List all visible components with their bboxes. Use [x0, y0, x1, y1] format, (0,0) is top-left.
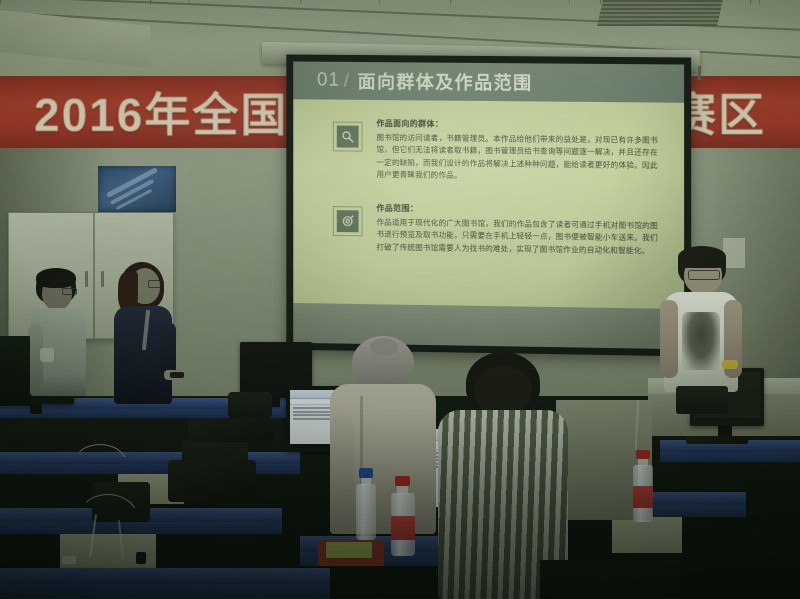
hair-top: [36, 268, 76, 288]
cable-plug: [136, 552, 146, 564]
slide-block-text: 作品范围： 作品适用于现代化的广大图书馆，我们的作品包含了读者可通过手机对图书馆…: [376, 203, 657, 258]
presentation-slide: 01 / 面向群体及作品范围: [293, 61, 684, 349]
slide-block-body: 作品适用于现代化的广大图书馆，我们的作品包含了读者可通过手机对图书馆的图书进行预…: [376, 217, 657, 258]
bottle-label: [633, 486, 653, 508]
person-seated-judge-gray-hair: [330, 336, 438, 546]
hair-top: [678, 246, 726, 268]
slide-block-title: 作品面向的群体：: [376, 118, 657, 132]
photo-scene: 2016年全国大 北分赛区 01 / 面向群体及作品范围: [0, 0, 800, 599]
magnifier-icon: [337, 126, 359, 148]
green-notebook[interactable]: [326, 542, 372, 558]
badge: [40, 348, 54, 362]
tshirt-graphic: [682, 312, 720, 370]
glasses-icon: [688, 270, 720, 280]
head-back: [474, 366, 532, 416]
slide-body: 作品面向的群体： 图书馆的访问读者，书籍管理员。本作品给他们带来的益处是，对现已…: [293, 99, 684, 309]
water-bottle-blue-cap[interactable]: [355, 468, 377, 540]
target-icon: [337, 210, 359, 232]
arm-left: [660, 300, 678, 378]
desk-row-c-face: [0, 522, 282, 534]
cable-connector: [62, 556, 76, 564]
cabinet-handle[interactable]: [101, 271, 104, 287]
bottle-body: [356, 484, 376, 540]
foreground-shadow-right: [540, 560, 680, 599]
trousers: [676, 386, 728, 414]
projection-surface: 01 / 面向群体及作品范围: [293, 61, 684, 349]
slide-separator: /: [344, 70, 349, 91]
slide-header: 01 / 面向群体及作品范围: [293, 61, 684, 102]
cabinet-door-split: [93, 213, 95, 338]
glasses-icon: [148, 280, 164, 288]
magnifier-icon-frame: [333, 122, 363, 152]
desk-row-a-face: [0, 409, 330, 418]
foreground-shadow-left: [0, 336, 30, 406]
wristband: [722, 360, 738, 369]
person-standing-left-light-shirt: [28, 268, 90, 398]
monitor-stand: [718, 426, 732, 436]
housing-cord: [698, 66, 701, 80]
projection-screen: 01 / 面向群体及作品范围: [286, 54, 691, 356]
bottle-cap: [395, 476, 410, 486]
desk-right-upper-face: [660, 452, 800, 462]
slide-block-text: 作品面向的群体： 图书馆的访问读者，书籍管理员。本作品给他们带来的益处是，对现已…: [376, 118, 657, 184]
desk-row-d-face: [0, 584, 330, 599]
bag-on-desk-rear[interactable]: [188, 418, 274, 442]
glasses-icon: [62, 288, 77, 295]
bottle-cap: [359, 468, 373, 478]
target-icon-frame: [333, 206, 363, 236]
bald-spot: [370, 338, 398, 356]
slide-heading: 面向群体及作品范围: [358, 68, 533, 95]
arm-left: [330, 416, 354, 528]
bag-on-desk[interactable]: [168, 460, 256, 502]
person-presenter-woman: [108, 262, 180, 404]
ceiling-vent: [597, 0, 723, 26]
monitor-stand: [30, 404, 42, 414]
bottle-cap: [636, 450, 650, 459]
slide-section-number: 01: [317, 70, 340, 92]
wall-poster: [98, 166, 176, 212]
slide-block-title: 作品范围：: [376, 203, 657, 217]
chair[interactable]: [228, 392, 272, 418]
water-bottle-red-cap-right[interactable]: [632, 450, 654, 522]
person-standing-right-white-tee: [660, 246, 744, 410]
desk-right-panel: [612, 517, 682, 553]
slide-block: 作品范围： 作品适用于现代化的广大图书馆，我们的作品包含了读者可通过手机对图书馆…: [333, 202, 658, 257]
slide-block-body: 图书馆的访问读者，书籍管理员。本作品给他们带来的益处是，对现已有许多图书馆，但它…: [376, 132, 657, 184]
water-bottle-red-cap-center[interactable]: [390, 476, 416, 556]
desk-row-d: [0, 568, 330, 584]
keyboard[interactable]: [686, 436, 748, 444]
slide-block: 作品面向的群体： 图书馆的访问读者，书籍管理员。本作品给他们带来的益处是，对现已…: [333, 118, 658, 185]
presenter-remote[interactable]: [170, 372, 184, 378]
bottle-label: [391, 516, 415, 540]
